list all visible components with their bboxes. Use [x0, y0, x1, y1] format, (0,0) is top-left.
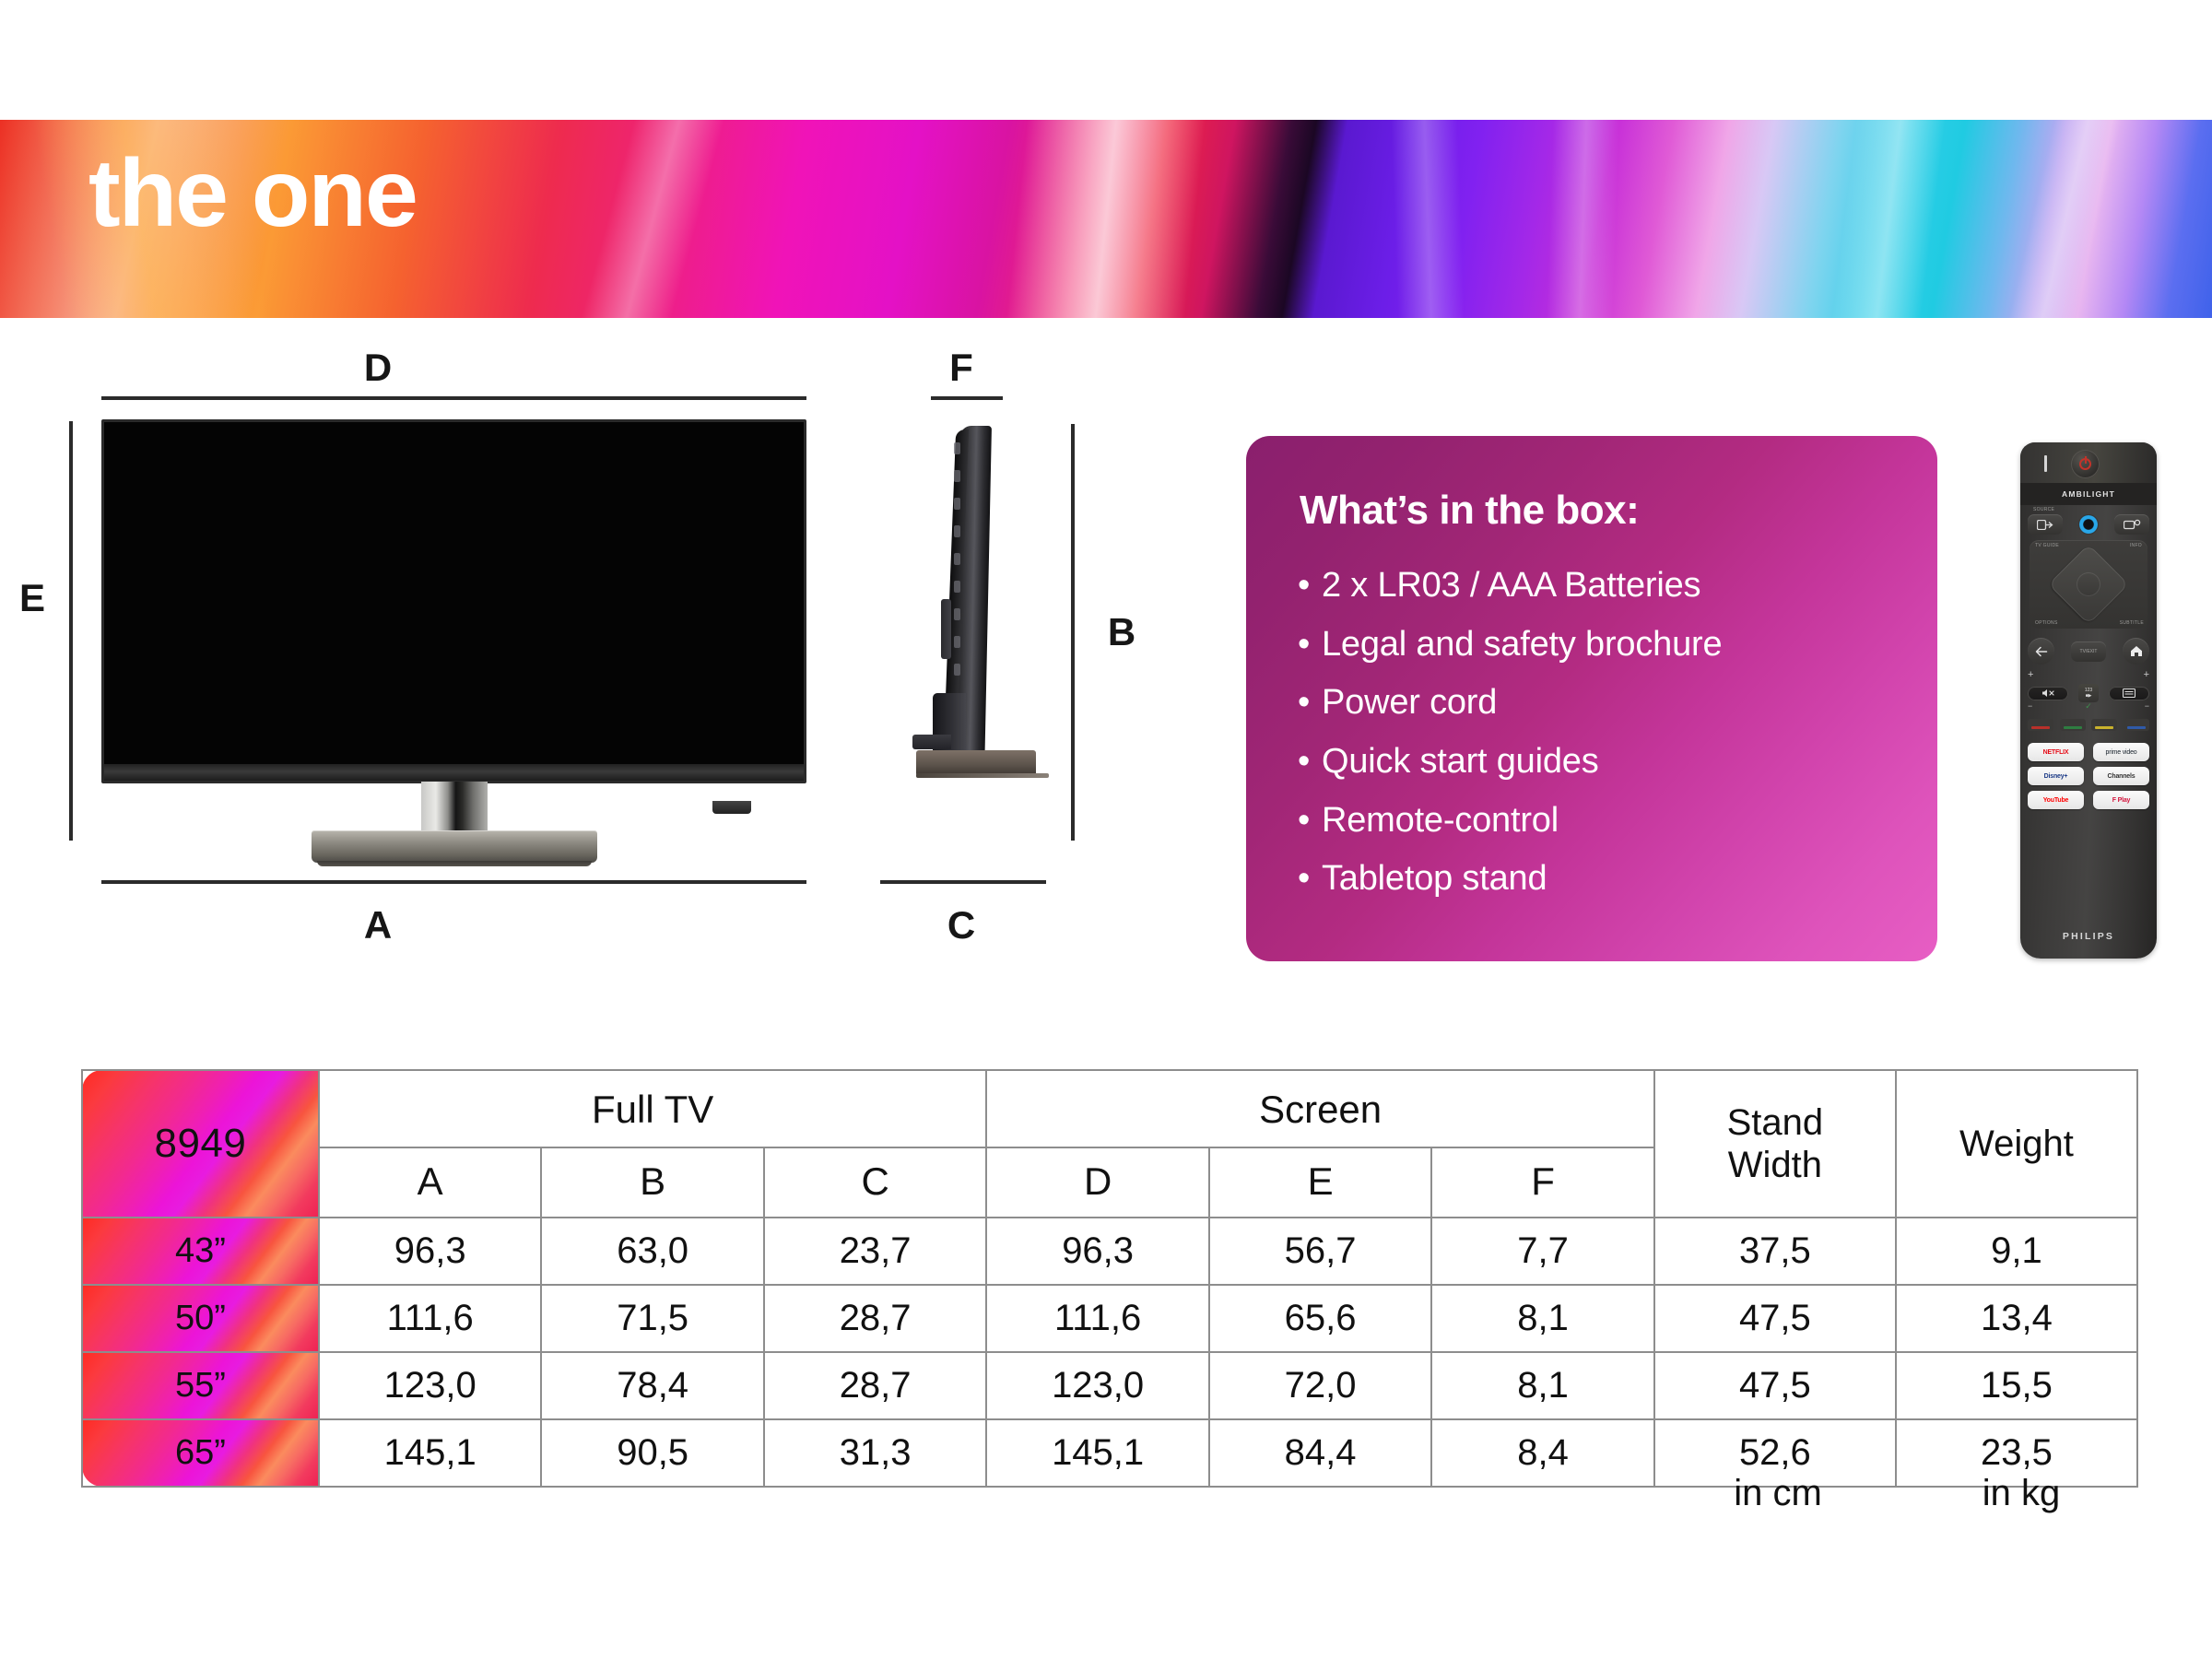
tv-logo-mark	[117, 770, 161, 778]
channel-list-icon	[2123, 688, 2136, 698]
cell-e: 65,6	[1209, 1285, 1431, 1352]
remote-row-plus-icons: + +	[2028, 671, 2149, 679]
back-arrow-icon	[2035, 646, 2048, 657]
remote-row-apps-1: NETFLIX prime video	[2028, 743, 2149, 761]
table-group-header-row: 8949 Full TV Screen Stand Width Weight	[82, 1070, 2137, 1147]
ambilight-button: AMBILIGHT	[2020, 483, 2157, 505]
mute-speaker-icon	[2041, 688, 2055, 698]
box-list-item: • Power cord	[1298, 684, 1906, 722]
back-button	[2028, 638, 2054, 665]
tv-side-vent	[954, 608, 960, 620]
screencast-icon	[2124, 519, 2141, 530]
remote-row-nav: TV/EXIT	[2028, 638, 2149, 665]
remote-row-volume-channel: 123 ■▶	[2028, 684, 2149, 702]
box-item-label: Power cord	[1322, 684, 1497, 722]
dimensions-table-wrapper: 8949 Full TV Screen Stand Width Weight A…	[81, 1069, 2138, 1488]
cell-stand-width: 37,5	[1654, 1218, 1896, 1285]
home-icon	[2130, 645, 2143, 657]
table-row: 55” 123,0 78,4 28,7 123,0 72,0 8,1 47,5 …	[82, 1352, 2137, 1419]
bullet-icon: •	[1298, 626, 1322, 664]
sub-header-f: F	[1431, 1147, 1654, 1218]
cell-weight: 13,4	[1896, 1285, 2137, 1352]
numeric-keypad-button: 123 ■▶	[2078, 684, 2099, 702]
color-button-green	[2060, 719, 2086, 731]
box-list-item: • Quick start guides	[1298, 743, 1906, 781]
ambilight-label: AMBILIGHT	[2062, 489, 2115, 499]
tv-side-connector-plate	[941, 599, 951, 659]
dimension-label-b: B	[1099, 610, 1145, 654]
header-weight: Weight	[1896, 1070, 2137, 1218]
group-header-full-tv: Full TV	[319, 1070, 986, 1147]
prime-video-label: prime video	[2106, 749, 2137, 756]
tv-stand-neck	[421, 782, 488, 833]
remote-row-color-buttons	[2028, 719, 2149, 731]
f-play-label: F Play	[2112, 797, 2130, 804]
sub-header-a: A	[319, 1147, 541, 1218]
volume-up-icon: +	[2028, 671, 2033, 679]
box-contents-list: • 2 x LR03 / AAA Batteries • Legal and s…	[1298, 567, 1906, 919]
stand-width-line2: Width	[1661, 1144, 1889, 1186]
cell-stand-width: 47,5	[1654, 1352, 1896, 1419]
cell-b: 90,5	[541, 1419, 763, 1487]
box-list-item: • Tabletop stand	[1298, 860, 1906, 898]
box-item-label: Quick start guides	[1322, 743, 1599, 781]
box-list-item: • Remote-control	[1298, 802, 1906, 840]
dimension-rule-bottom-front	[101, 880, 806, 884]
f-play-app-button: F Play	[2093, 791, 2149, 809]
cell-f: 7,7	[1431, 1218, 1654, 1285]
channel-down-icon: −	[2145, 702, 2149, 710]
cell-c: 28,7	[764, 1352, 987, 1419]
hero-banner: the one	[0, 120, 2212, 318]
cell-a: 145,1	[319, 1419, 541, 1487]
row-size-label: 43”	[82, 1218, 319, 1285]
remote-row-source	[2028, 514, 2149, 535]
model-cell: 8949	[82, 1070, 319, 1218]
bullet-icon: •	[1298, 860, 1322, 898]
dimension-label-d: D	[350, 346, 406, 390]
source-icon	[2037, 520, 2053, 530]
cell-a: 96,3	[319, 1218, 541, 1285]
cell-e: 56,7	[1209, 1218, 1431, 1285]
tv-guide-micro-label: TV GUIDE	[2035, 543, 2059, 548]
remote-row-apps-3: YouTube F Play	[2028, 791, 2149, 809]
standby-bar-icon	[2044, 455, 2047, 472]
cell-a: 123,0	[319, 1352, 541, 1419]
tv-side-vent	[954, 442, 960, 454]
bullet-icon: •	[1298, 743, 1322, 781]
dimension-label-e: E	[9, 576, 55, 620]
info-micro-label: INFO	[2130, 543, 2142, 548]
cell-c: 23,7	[764, 1218, 987, 1285]
bullet-icon: •	[1298, 567, 1322, 605]
sub-header-c: C	[764, 1147, 987, 1218]
sub-header-d: D	[986, 1147, 1208, 1218]
unit-label-cm: in cm	[1663, 1473, 1893, 1514]
banner-title: the one	[88, 146, 417, 241]
bullet-icon: •	[1298, 684, 1322, 722]
source-micro-label: SOURCE	[2033, 507, 2054, 512]
page-root: the one D E A F B C	[0, 0, 2212, 1659]
channel-up-icon: +	[2144, 671, 2149, 679]
tv-side-vent	[954, 525, 960, 537]
bullet-icon: •	[1298, 802, 1322, 840]
stand-width-line1: Stand	[1661, 1101, 1889, 1144]
playback-icon: ■▶	[2086, 693, 2092, 699]
cell-e: 84,4	[1209, 1419, 1431, 1487]
volume-mute-button	[2028, 687, 2068, 700]
dimension-rule-bottom-side	[880, 880, 1046, 884]
tv-side-stand-clip	[912, 735, 951, 749]
source-button	[2028, 514, 2063, 535]
cell-d: 111,6	[986, 1285, 1208, 1352]
power-icon	[2079, 458, 2091, 470]
row-size-label: 55”	[82, 1352, 319, 1419]
group-header-screen: Screen	[986, 1070, 1653, 1147]
tv-exit-label: TV/EXIT	[2080, 649, 2098, 654]
cell-d: 123,0	[986, 1352, 1208, 1419]
sub-header-b: B	[541, 1147, 763, 1218]
youtube-label: YouTube	[2043, 797, 2069, 804]
remote-control-image: AMBILIGHT SOURCE TV GUIDE INFO OPTIONS	[2020, 442, 2157, 959]
disney-plus-label: Disney+	[2044, 773, 2068, 780]
cell-b: 63,0	[541, 1218, 763, 1285]
cell-f: 8,4	[1431, 1419, 1654, 1487]
cell-weight: 9,1	[1896, 1218, 2137, 1285]
cell-c: 28,7	[764, 1285, 987, 1352]
dimension-label-a: A	[350, 903, 406, 947]
cell-c: 31,3	[764, 1419, 987, 1487]
disney-plus-app-button: Disney+	[2028, 767, 2084, 785]
cell-f: 8,1	[1431, 1285, 1654, 1352]
tv-side-view	[912, 417, 1078, 813]
cell-d: 145,1	[986, 1419, 1208, 1487]
cell-b: 71,5	[541, 1285, 763, 1352]
table-row: 43” 96,3 63,0 23,7 96,3 56,7 7,7 37,5 9,…	[82, 1218, 2137, 1285]
cell-d: 96,3	[986, 1218, 1208, 1285]
sub-header-e: E	[1209, 1147, 1431, 1218]
remote-row-minus-icons: − ✓ −	[2028, 702, 2149, 710]
unit-label-kg: in kg	[1906, 1473, 2136, 1514]
row-size-label: 65”	[82, 1419, 319, 1487]
color-button-blue	[2124, 719, 2149, 731]
box-list-item: • 2 x LR03 / AAA Batteries	[1298, 567, 1906, 605]
channels-app-button: Channels	[2093, 767, 2149, 785]
tv-side-vent	[954, 553, 960, 565]
home-button	[2123, 638, 2149, 665]
dimension-rule-top-side	[931, 396, 1003, 400]
table-row: 50” 111,6 71,5 28,7 111,6 65,6 8,1 47,5 …	[82, 1285, 2137, 1352]
box-panel-title: What’s in the box:	[1300, 488, 1639, 534]
channels-label: Channels	[2108, 773, 2136, 780]
cell-b: 78,4	[541, 1352, 763, 1419]
remote-row-apps-2: Disney+ Channels	[2028, 767, 2149, 785]
philips-brand-label: PHILIPS	[2020, 931, 2157, 942]
cell-stand-width: 47,5	[1654, 1285, 1896, 1352]
dimension-rule-top-front	[101, 396, 806, 400]
volume-down-icon: −	[2028, 702, 2032, 710]
dimension-label-c: C	[938, 903, 984, 947]
tv-side-vent	[954, 581, 960, 593]
dimension-label-f: F	[938, 346, 984, 390]
tv-ir-receiver	[712, 801, 751, 814]
row-size-label: 50”	[82, 1285, 319, 1352]
tv-side-vent	[954, 470, 960, 482]
tv-side-vent	[954, 664, 960, 676]
eco-leaf-icon: ✓	[2085, 702, 2092, 710]
box-item-label: 2 x LR03 / AAA Batteries	[1322, 567, 1700, 605]
box-item-label: Legal and safety brochure	[1322, 626, 1722, 664]
cell-f: 8,1	[1431, 1352, 1654, 1419]
tv-side-vent	[954, 498, 960, 510]
channel-button	[2109, 687, 2149, 700]
tv-front-view	[101, 419, 806, 806]
options-micro-label: OPTIONS	[2035, 620, 2058, 626]
screencast-button	[2114, 514, 2149, 535]
box-item-label: Tabletop stand	[1322, 860, 1547, 898]
color-button-red	[2028, 719, 2053, 731]
power-button	[2071, 450, 2100, 478]
cell-a: 111,6	[319, 1285, 541, 1352]
voice-assistant-button	[2078, 514, 2099, 535]
header-stand-width: Stand Width	[1654, 1070, 1896, 1218]
netflix-app-button: NETFLIX	[2028, 743, 2084, 761]
dimensions-table: 8949 Full TV Screen Stand Width Weight A…	[81, 1069, 2138, 1488]
tv-screen-panel	[101, 419, 806, 783]
cell-weight: 15,5	[1896, 1352, 2137, 1419]
tv-side-vent	[954, 636, 960, 648]
box-list-item: • Legal and safety brochure	[1298, 626, 1906, 664]
tv-side-stand-foot	[916, 750, 1036, 776]
tv-dimension-diagram: D E A F B C	[0, 369, 1226, 1051]
dimension-rule-left-front	[69, 421, 73, 841]
tv-stand-base	[312, 830, 597, 863]
tv-exit-button: TV/EXIT	[2071, 641, 2106, 662]
subtitle-micro-label: SUBTITLE	[2120, 620, 2144, 626]
youtube-app-button: YouTube	[2028, 791, 2084, 809]
color-button-yellow	[2091, 719, 2117, 731]
netflix-label: NETFLIX	[2043, 749, 2069, 756]
prime-video-app-button: prime video	[2093, 743, 2149, 761]
navigation-pad: TV GUIDE INFO OPTIONS SUBTITLE	[2030, 540, 2147, 629]
whats-in-the-box-panel: What’s in the box: • 2 x LR03 / AAA Batt…	[1246, 436, 1937, 961]
cell-e: 72,0	[1209, 1352, 1431, 1419]
ok-button	[2077, 572, 2100, 596]
box-item-label: Remote-control	[1322, 802, 1559, 840]
